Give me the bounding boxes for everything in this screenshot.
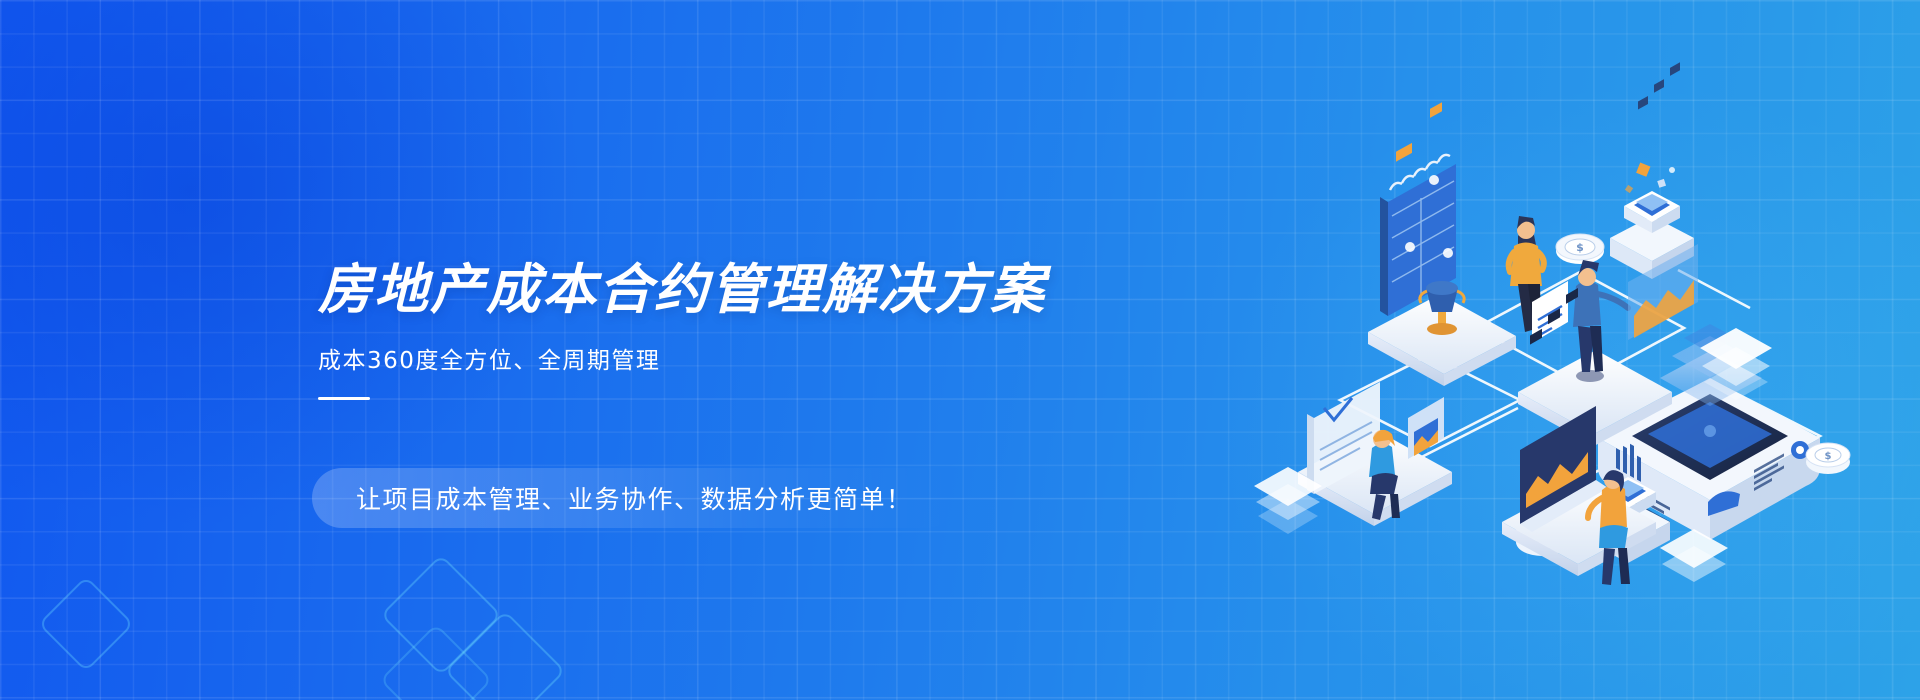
page-title: 房地产成本合约管理解决方案 bbox=[318, 262, 1218, 319]
hero-illustration: $ bbox=[1280, 150, 1900, 580]
svg-text:$: $ bbox=[1825, 451, 1832, 462]
page-subtitle: 成本360度全方位、全周期管理 bbox=[318, 341, 1218, 375]
decorative-diamond-icon bbox=[38, 576, 134, 672]
decorative-diamond-icon bbox=[380, 554, 502, 676]
tagline-badge: 让项目成本管理、业务协作、数据分析更简单！ bbox=[312, 468, 957, 528]
decorative-diamond-icon bbox=[379, 623, 492, 700]
svg-text:$: $ bbox=[1576, 241, 1584, 254]
title-divider bbox=[318, 397, 370, 400]
hero-banner: $ bbox=[0, 0, 1920, 700]
coin-right-icon: $ bbox=[1806, 443, 1850, 474]
decorative-diamond-icon bbox=[444, 610, 566, 700]
confetti-decoration bbox=[1625, 162, 1675, 193]
hero-copy: 房地产成本合约管理解决方案 成本360度全方位、全周期管理 让项目成本管理、业务… bbox=[318, 262, 1218, 400]
floating-plate-stack bbox=[1660, 529, 1728, 582]
coin-stack-icon: $ bbox=[1556, 234, 1604, 264]
